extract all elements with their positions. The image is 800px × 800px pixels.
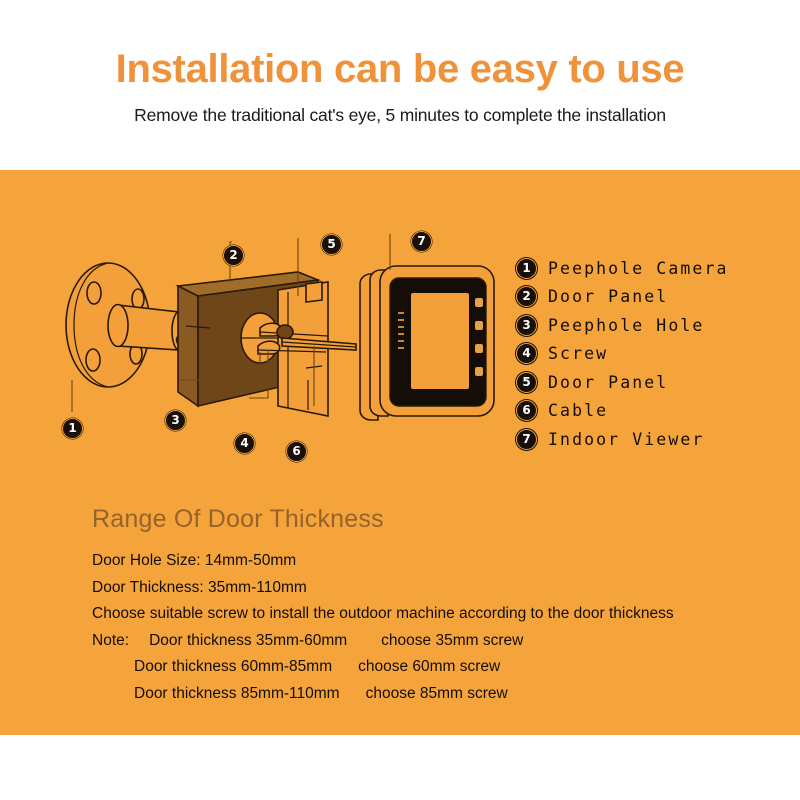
page-title: Installation can be easy to use (0, 47, 800, 92)
legend-label-5: Door Panel (548, 373, 668, 392)
legend-label-1: Peephole Camera (548, 259, 729, 278)
legend-label-3: Peephole Hole (548, 316, 704, 335)
legend-item-4: 4 Screw (516, 340, 766, 369)
legend-bullet-4: 4 (516, 343, 537, 364)
callout-1: 1 (62, 418, 83, 439)
header-band: Installation can be easy to use Remove t… (0, 0, 800, 170)
spec-note-screw-2: choose 60mm screw (358, 658, 500, 675)
spec-note-screw-1: choose 35mm screw (381, 632, 523, 649)
legend-label-7: Indoor Viewer (548, 430, 704, 449)
spec-note-screw-3: choose 85mm screw (366, 685, 508, 702)
callout-3: 3 (165, 410, 186, 431)
legend-bullet-7: 7 (516, 429, 537, 450)
spec-note-range-3: Door thickness 85mm-110mm (134, 685, 340, 702)
spec-note-row-2: Door thickness 60mm-85mmchoose 60mm scre… (92, 654, 752, 681)
spec-note-label: Note: (92, 632, 129, 649)
spec-door-hole-size: Door Hole Size: 14mm-50mm (92, 548, 752, 575)
door-panel-plate-part (278, 282, 328, 416)
legend-bullet-6: 6 (516, 400, 537, 421)
parts-legend: 1 Peephole Camera 2 Door Panel 3 Peephol… (516, 254, 766, 454)
indoor-viewer-part (360, 266, 494, 420)
page-subtitle: Remove the traditional cat's eye, 5 minu… (0, 105, 800, 126)
spec-choose-screw: Choose suitable screw to install the out… (92, 601, 752, 628)
legend-bullet-3: 3 (516, 315, 537, 336)
legend-item-5: 5 Door Panel (516, 368, 766, 397)
legend-bullet-5: 5 (516, 372, 537, 393)
legend-label-2: Door Panel (548, 287, 668, 306)
legend-item-6: 6 Cable (516, 397, 766, 426)
callout-7: 7 (411, 231, 432, 252)
callout-5: 5 (321, 234, 342, 255)
exploded-product-diagram: .ln { fill:none; stroke:#2a1a0a; stroke-… (60, 220, 500, 460)
callout-4: 4 (234, 433, 255, 454)
specification-block: Range Of Door Thickness Door Hole Size: … (92, 505, 752, 707)
spec-door-thickness: Door Thickness: 35mm-110mm (92, 575, 752, 602)
legend-label-4: Screw (548, 344, 608, 363)
legend-label-6: Cable (548, 401, 608, 420)
orange-content-panel: .ln { fill:none; stroke:#2a1a0a; stroke-… (0, 170, 800, 735)
legend-item-1: 1 Peephole Camera (516, 254, 766, 283)
legend-item-7: 7 Indoor Viewer (516, 425, 766, 454)
legend-bullet-1: 1 (516, 258, 537, 279)
callout-6: 6 (286, 441, 307, 462)
callout-2: 2 (223, 245, 244, 266)
spec-note-range-2: Door thickness 60mm-85mm (134, 658, 332, 675)
legend-item-3: 3 Peephole Hole (516, 311, 766, 340)
spec-note-row-3: Door thickness 85mm-110mmchoose 85mm scr… (92, 681, 752, 708)
spec-note-row-1: Note:Door thickness 35mm-60mmchoose 35mm… (92, 628, 752, 655)
legend-item-2: 2 Door Panel (516, 283, 766, 312)
spec-note-range-1: Door thickness 35mm-60mm (149, 632, 347, 649)
peephole-camera-part (66, 263, 186, 387)
legend-bullet-2: 2 (516, 286, 537, 307)
spec-heading: Range Of Door Thickness (92, 505, 752, 534)
